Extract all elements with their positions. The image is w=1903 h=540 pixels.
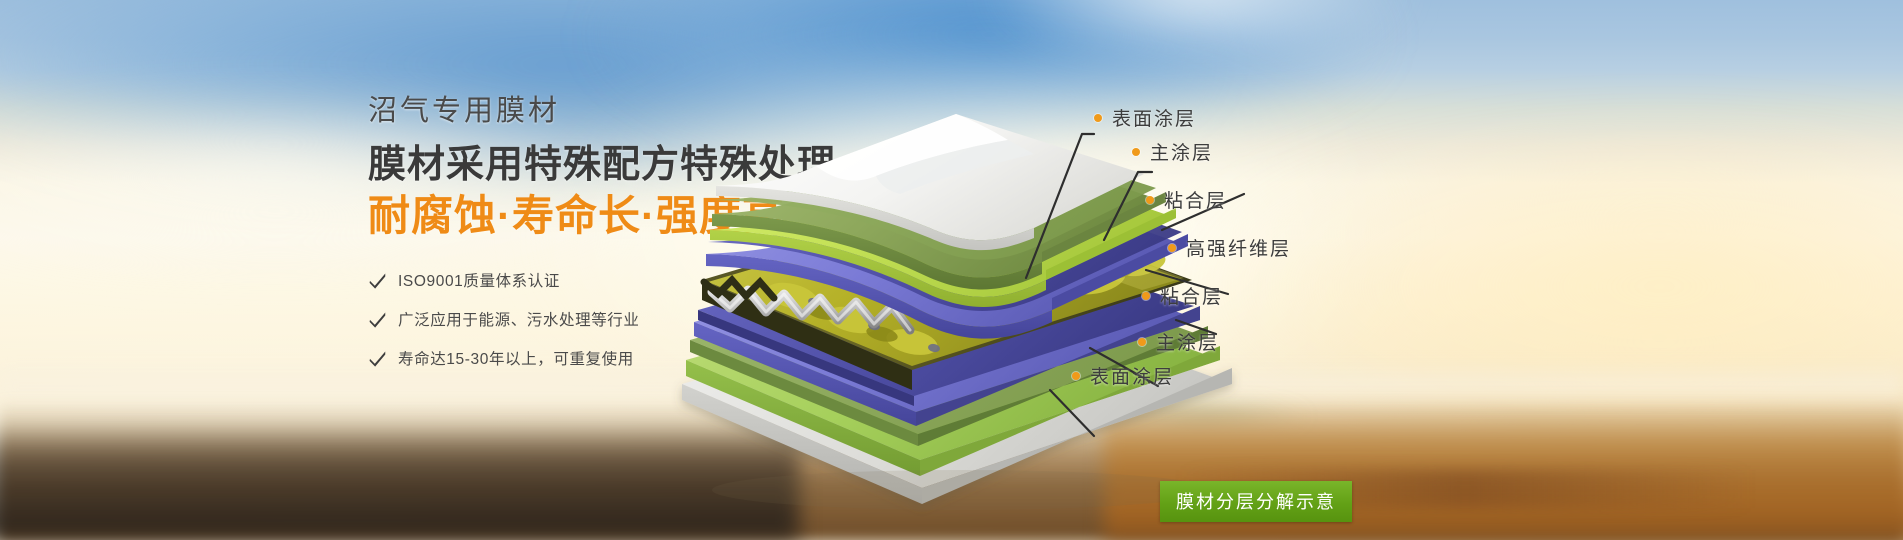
callout-main-coating-bottom[interactable]: 主涂层 (1138, 328, 1219, 355)
callout-label: 粘合层 (1164, 186, 1227, 213)
callout-dot-icon (1146, 196, 1154, 204)
callout-high-strength-fiber[interactable]: 高强纤维层 (1168, 234, 1291, 261)
callout-label: 高强纤维层 (1186, 234, 1291, 261)
banner-root: 沼气专用膜材 膜材采用特殊配方特殊处理 耐腐蚀·寿命长·强度高 ISO9001质… (0, 0, 1903, 540)
callout-surface-coating-top[interactable]: 表面涂层 (1094, 104, 1196, 131)
callout-leader-lines (0, 0, 1903, 540)
callout-label: 粘合层 (1160, 282, 1223, 309)
callout-dot-icon (1168, 244, 1176, 252)
callout-dot-icon (1094, 114, 1102, 122)
diagram-caption-badge: 膜材分层分解示意 (1160, 481, 1352, 522)
callout-dot-icon (1138, 338, 1146, 346)
callout-label: 主涂层 (1156, 328, 1219, 355)
callout-surface-coating-bottom[interactable]: 表面涂层 (1072, 362, 1174, 389)
callout-main-coating-top[interactable]: 主涂层 (1132, 138, 1213, 165)
callout-dot-icon (1142, 292, 1150, 300)
callout-label: 主涂层 (1150, 138, 1213, 165)
callout-dot-icon (1132, 148, 1140, 156)
callout-label: 表面涂层 (1090, 362, 1174, 389)
callout-adhesive-bottom[interactable]: 粘合层 (1142, 282, 1223, 309)
callout-dot-icon (1072, 372, 1080, 380)
callout-adhesive-top[interactable]: 粘合层 (1146, 186, 1227, 213)
callout-label: 表面涂层 (1112, 104, 1196, 131)
